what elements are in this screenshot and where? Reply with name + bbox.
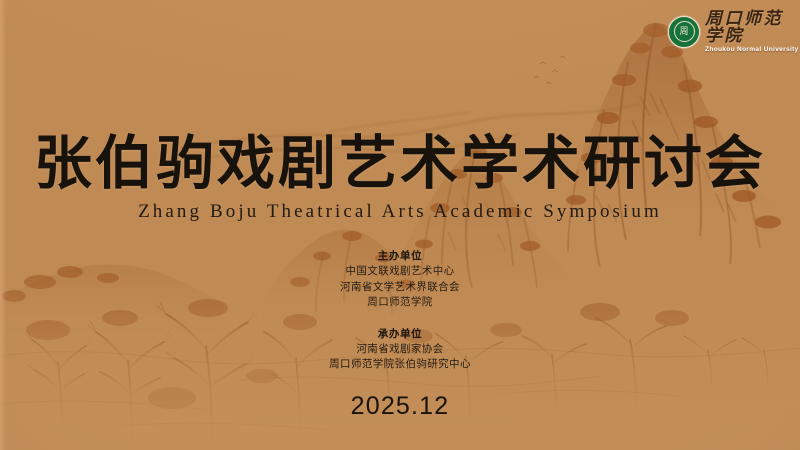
- university-name-cn: 周口师范学院: [705, 10, 800, 44]
- host-item: 周口师范学院: [0, 295, 800, 311]
- conference-poster: 周 周口师范学院 Zhoukou Normal University 张伯驹戏剧…: [0, 0, 800, 450]
- host-heading: 主办单位: [0, 248, 800, 264]
- university-name-en: Zhoukou Normal University: [705, 47, 800, 54]
- host-item: 河南省文学艺术界联合会: [0, 280, 800, 296]
- coorganizer-item: 周口师范学院张伯驹研究中心: [0, 357, 800, 373]
- coorganizer-item: 河南省戏剧家协会: [0, 342, 800, 358]
- university-seal-icon: 周: [668, 16, 700, 48]
- coorganizer-heading: 承办单位: [0, 326, 800, 342]
- host-item: 中国文联戏剧艺术中心: [0, 264, 800, 280]
- university-logo: 周 周口师范学院 Zhoukou Normal University: [668, 10, 800, 54]
- organizers-spacer: [0, 311, 800, 326]
- page-subtitle: Zhang Boju Theatrical Arts Academic Symp…: [0, 201, 800, 223]
- seal-glyph: 周: [674, 21, 695, 42]
- event-date: 2025.12: [0, 392, 800, 421]
- organizers-block: 主办单位 中国文联戏剧艺术中心 河南省文学艺术界联合会 周口师范学院 承办单位 …: [0, 248, 800, 373]
- page-title: 张伯驹戏剧艺术学术研讨会: [0, 133, 800, 196]
